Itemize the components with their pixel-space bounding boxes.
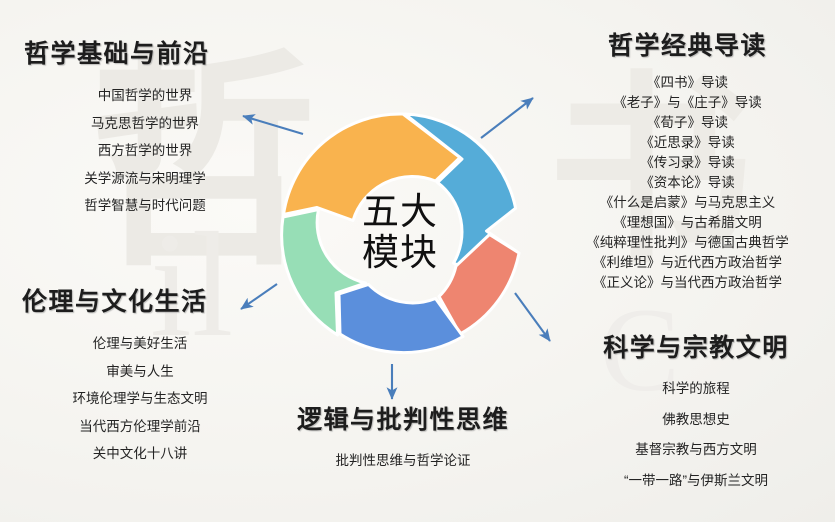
- list-item: 当代西方伦理学前沿: [10, 420, 300, 434]
- list-item: 《纯粹理性批判》与德国古典哲学: [540, 236, 835, 250]
- section-science-list: 科学的旅程 佛教思想史 基督宗教与西方文明 “一带一路”与伊斯兰文明: [556, 382, 835, 487]
- list-item: 《利维坦》与近代西方政治哲学: [540, 256, 835, 270]
- list-item: 《什么是启蒙》与马克思主义: [540, 196, 835, 210]
- section-logic-list: 批判性思维与哲学论证: [258, 454, 548, 468]
- section-classics-title: 哲学经典导读: [540, 26, 835, 62]
- section-logic: 逻辑与批判性思维 批判性思维与哲学论证: [258, 400, 548, 468]
- section-foundation: 哲学基础与前沿 中国哲学的世界 马克思哲学的世界 西方哲学的世界 关学源流与宋明…: [14, 34, 304, 227]
- list-item: 环境伦理学与生态文明: [10, 392, 300, 406]
- list-item: 审美与人生: [10, 365, 300, 379]
- list-item: 《理想国》与古希腊文明: [540, 216, 835, 230]
- list-item: 中国哲学的世界: [14, 89, 304, 103]
- list-item: 《四书》导读: [540, 76, 835, 90]
- section-ethics-title: 伦理与文化生活: [10, 282, 300, 318]
- list-item: 《荀子》导读: [540, 116, 835, 130]
- list-item: 批判性思维与哲学论证: [258, 454, 548, 468]
- list-item: 基督宗教与西方文明: [556, 443, 835, 457]
- list-item: 关学源流与宋明理学: [14, 172, 304, 186]
- list-item: 《老子》与《庄子》导读: [540, 96, 835, 110]
- five-modules-donut: 五大 模块: [276, 108, 524, 356]
- list-item: 哲学智慧与时代问题: [14, 199, 304, 213]
- list-item: 马克思哲学的世界: [14, 117, 304, 131]
- section-classics: 哲学经典导读 《四书》导读 《老子》与《庄子》导读 《荀子》导读 《近思录》导读…: [540, 26, 835, 296]
- section-foundation-list: 中国哲学的世界 马克思哲学的世界 西方哲学的世界 关学源流与宋明理学 哲学智慧与…: [14, 89, 304, 213]
- list-item: 西方哲学的世界: [14, 144, 304, 158]
- donut-svg: [276, 108, 524, 356]
- list-item: 佛教思想史: [556, 413, 835, 427]
- list-item: 关中文化十八讲: [10, 447, 300, 461]
- list-item: 《传习录》导读: [540, 156, 835, 170]
- list-item: 《近思录》导读: [540, 136, 835, 150]
- section-ethics: 伦理与文化生活 伦理与美好生活 审美与人生 环境伦理学与生态文明 当代西方伦理学…: [10, 282, 300, 475]
- section-ethics-list: 伦理与美好生活 审美与人生 环境伦理学与生态文明 当代西方伦理学前沿 关中文化十…: [10, 337, 300, 461]
- section-foundation-title: 哲学基础与前沿: [14, 34, 304, 70]
- section-science-title: 科学与宗教文明: [556, 328, 835, 364]
- section-logic-title: 逻辑与批判性思维: [258, 400, 548, 436]
- list-item: 《正义论》与当代西方政治哲学: [540, 276, 835, 290]
- section-classics-list: 《四书》导读 《老子》与《庄子》导读 《荀子》导读 《近思录》导读 《传习录》导…: [540, 76, 835, 290]
- list-item: 伦理与美好生活: [10, 337, 300, 351]
- infographic-canvas: 哲 书 il C: [0, 0, 835, 522]
- list-item: 《资本论》导读: [540, 176, 835, 190]
- list-item: “一带一路”与伊斯兰文明: [556, 474, 835, 488]
- section-science: 科学与宗教文明 科学的旅程 佛教思想史 基督宗教与西方文明 “一带一路”与伊斯兰…: [556, 328, 835, 504]
- list-item: 科学的旅程: [556, 382, 835, 396]
